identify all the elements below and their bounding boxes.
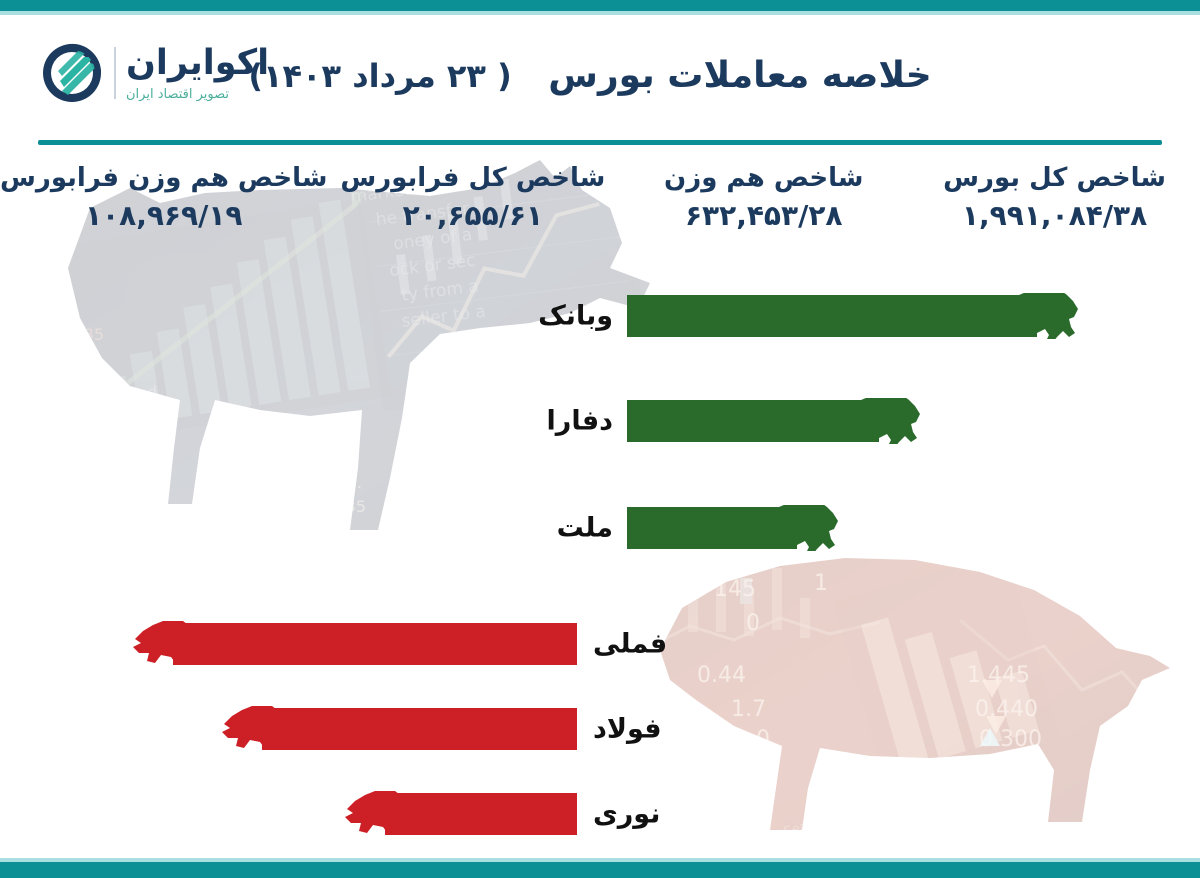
- bull-bar-icon: [627, 293, 1078, 339]
- page-title-date: ( ۲۳ مرداد ۱۴۰۳): [248, 57, 511, 95]
- stat-farabourse-equal-weight-index: شاخص هم وزن فرابورس ۱۰۸,۹۶۹/۱۹: [0, 162, 327, 258]
- bar-label: نوری: [593, 799, 660, 830]
- bar-label: ملت: [557, 513, 613, 544]
- header-divider: [38, 140, 1162, 145]
- bar-row-negative-3[interactable]: نوری: [345, 791, 577, 837]
- bar-row-positive-2[interactable]: دفارا: [627, 398, 920, 444]
- bar-label: فولاد: [593, 714, 662, 745]
- stat-label: شاخص هم وزن: [618, 162, 909, 195]
- bar-row-negative-1[interactable]: فملی: [133, 621, 577, 667]
- stat-label: شاخص هم وزن فرابورس: [0, 162, 327, 195]
- bar-label: فملی: [593, 629, 667, 660]
- bar-row-negative-2[interactable]: فولاد: [222, 706, 577, 752]
- stat-value: ۱۰۸,۹۶۹/۱۹: [0, 198, 327, 233]
- bear-bar-icon: [222, 706, 577, 752]
- bar-label: دفارا: [547, 406, 613, 437]
- bar-row-positive-3[interactable]: ملت: [627, 505, 838, 551]
- page-header: اکوایران تصویر اقتصاد ایران خلاصه معاملا…: [0, 11, 1200, 131]
- stat-equal-weight-index: شاخص هم وزن ۶۳۲,۴۵۳/۲۸: [618, 162, 909, 258]
- page-title-main: خلاصه معاملات بورس: [548, 55, 931, 96]
- impact-bar-chart: وبانک دفارا ملت: [0, 258, 1200, 858]
- stat-value: ۶۳۲,۴۵۳/۲۸: [618, 198, 909, 233]
- bull-bar-icon: [627, 505, 838, 551]
- stat-label: شاخص کل فرابورس: [327, 162, 618, 195]
- bull-bar-icon: [627, 398, 920, 444]
- page-title: خلاصه معاملات بورس ( ۲۳ مرداد ۱۴۰۳): [0, 55, 1200, 96]
- bar-label: وبانک: [538, 301, 613, 332]
- bottom-accent-bar: [0, 862, 1200, 878]
- stat-label: شاخص کل بورس: [909, 162, 1200, 195]
- bar-row-positive-1[interactable]: وبانک: [627, 293, 1078, 339]
- index-stats-row: شاخص کل بورس ۱,۹۹۱,۰۸۴/۳۸ شاخص هم وزن ۶۳…: [0, 162, 1200, 258]
- stat-farabourse-total-index: شاخص کل فرابورس ۲۰,۶۵۵/۶۱: [327, 162, 618, 258]
- stat-total-index: شاخص کل بورس ۱,۹۹۱,۰۸۴/۳۸: [909, 162, 1200, 258]
- infographic-page: markets mea he transfer oney of a ock or…: [0, 0, 1200, 878]
- stat-value: ۲۰,۶۵۵/۶۱: [327, 198, 618, 233]
- stat-value: ۱,۹۹۱,۰۸۴/۳۸: [909, 198, 1200, 233]
- bear-bar-icon: [133, 621, 577, 667]
- top-accent-bar: [0, 0, 1200, 11]
- bear-bar-icon: [345, 791, 577, 837]
